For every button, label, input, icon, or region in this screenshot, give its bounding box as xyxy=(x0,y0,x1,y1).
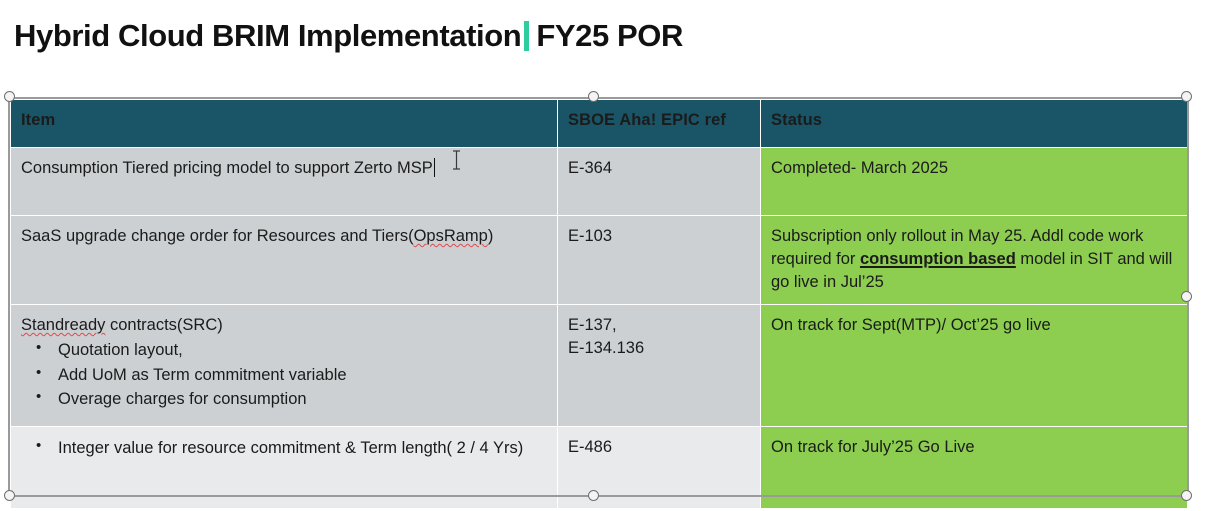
table-header: Item SBOE Aha! EPIC ref Status xyxy=(11,100,1188,148)
cell-epic-ref[interactable]: E-103 xyxy=(558,216,761,305)
por-table-container[interactable]: Item SBOE Aha! EPIC ref Status Consumpti… xyxy=(10,99,1187,497)
cell-epic-ref[interactable]: E-137, E-134.136 xyxy=(558,305,761,427)
por-table[interactable]: Item SBOE Aha! EPIC ref Status Consumpti… xyxy=(10,99,1188,509)
item-heading: Consumption Tiered pricing model to supp… xyxy=(21,157,547,180)
column-header-item[interactable]: Item xyxy=(11,100,558,148)
list-item: Add UoM as Term commitment variable xyxy=(23,363,547,388)
resize-handle-bottom-middle[interactable] xyxy=(588,490,599,501)
table-row[interactable]: SaaS upgrade change order for Resources … xyxy=(11,216,1188,305)
table-header-row: Item SBOE Aha! EPIC ref Status xyxy=(11,100,1188,148)
cell-item[interactable]: SaaS upgrade change order for Resources … xyxy=(11,216,558,305)
page-title-accent: FY25 POR xyxy=(536,18,683,54)
cell-status[interactable]: Subscription only rollout in May 25. Add… xyxy=(761,216,1188,305)
item-heading: Standready contracts(SRC) xyxy=(21,314,547,337)
item-bullet-list: Integer value for resource commitment & … xyxy=(21,436,547,461)
item-heading-post: contracts(SRC) xyxy=(105,316,222,334)
cell-item[interactable]: Consumption Tiered pricing model to supp… xyxy=(11,148,558,216)
table-row[interactable]: Standready contracts(SRC) Quotation layo… xyxy=(11,305,1188,427)
resize-handle-top-middle[interactable] xyxy=(588,91,599,102)
item-heading-pre: SaaS upgrade change order for Resources … xyxy=(21,227,414,245)
column-header-status[interactable]: Status xyxy=(761,100,1188,148)
resize-handle-bottom-right[interactable] xyxy=(1181,490,1192,501)
status-underlined-phrase: consumption based xyxy=(860,250,1016,268)
cell-status[interactable]: On track for Sept(MTP)/ Oct’25 go live xyxy=(761,305,1188,427)
selection-edge-left xyxy=(8,97,10,497)
item-heading-post: ) xyxy=(488,227,494,245)
epic-ref-line-1: E-137, xyxy=(568,314,750,337)
list-item: Quotation layout, xyxy=(23,338,547,363)
resize-handle-top-left[interactable] xyxy=(4,91,15,102)
resize-handle-top-right[interactable] xyxy=(1181,91,1192,102)
spellcheck-error-word: OpsRamp xyxy=(414,227,488,245)
column-header-epic-ref[interactable]: SBOE Aha! EPIC ref xyxy=(558,100,761,148)
page-title-main: Hybrid Cloud BRIM Implementation xyxy=(14,18,521,54)
cell-status[interactable]: Completed- March 2025 xyxy=(761,148,1188,216)
page-title: Hybrid Cloud BRIM Implementation FY25 PO… xyxy=(14,18,683,54)
spellcheck-error-word: Standready xyxy=(21,316,105,334)
text-caret xyxy=(434,158,436,177)
list-item: Integer value for resource commitment & … xyxy=(23,436,547,461)
epic-ref-line-2: E-134.136 xyxy=(568,337,750,360)
cell-epic-ref[interactable]: E-364 xyxy=(558,148,761,216)
item-bullet-list: Quotation layout, Add UoM as Term commit… xyxy=(21,338,547,412)
title-divider-bar xyxy=(524,21,529,51)
cell-item[interactable]: Standready contracts(SRC) Quotation layo… xyxy=(11,305,558,427)
table-body: Consumption Tiered pricing model to supp… xyxy=(11,148,1188,509)
list-item: Overage charges for consumption xyxy=(23,387,547,412)
resize-handle-middle-right[interactable] xyxy=(1181,291,1192,302)
table-row[interactable]: Consumption Tiered pricing model to supp… xyxy=(11,148,1188,216)
resize-handle-bottom-left[interactable] xyxy=(4,490,15,501)
